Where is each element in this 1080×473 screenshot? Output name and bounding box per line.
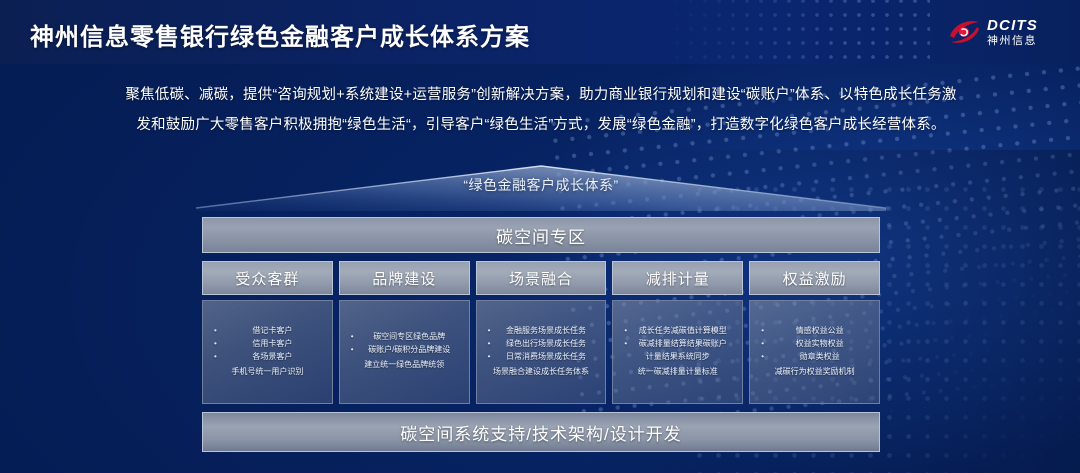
pillar-footer: 场景融合建设成长任务体系	[480, 365, 603, 379]
bullet-list: 借记卡客户 信用卡客户 各场景客户	[206, 324, 329, 363]
dcits-swoosh-icon	[948, 17, 982, 47]
summary-line-1: 聚焦低碳、减碳，提供“咨询规划+系统建设+运营服务”创新解决方案，助力商业银行规…	[30, 80, 1052, 110]
header-dots-pattern	[670, 0, 930, 64]
list-item: 碳账户/碳积分品牌建设	[343, 343, 466, 356]
logo-text-cn: 神州信息	[987, 36, 1038, 47]
pillar-note: 计量结果系统同步	[616, 350, 739, 363]
page-title: 神州信息零售银行绿色金融客户成长体系方案	[30, 17, 530, 52]
bullet-list: 情感权益公益 权益实物权益 勋章类权益	[753, 324, 876, 363]
pillar-footer: 统一碳减排量计量标准	[616, 365, 739, 379]
pillar-title: 减排计量	[612, 261, 743, 295]
list-item: 各场景客户	[206, 350, 329, 363]
pillar-content: 成长任务减碳值计算模型 碳减排量结算结果碳账户 计量结果系统同步 统一碳减排量计…	[612, 300, 743, 404]
pillar-footer: 手机号统一用户识别	[206, 365, 329, 379]
bullet-list: 金融服务场景成长任务 绿色出行场景成长任务 日常消费场景成长任务	[480, 324, 603, 363]
logo-wordmark: DCITS 神州信息	[987, 18, 1038, 47]
pillar-column-audience[interactable]: 受众客群 借记卡客户 信用卡客户 各场景客户 手机号统一用户识别	[202, 261, 333, 404]
pillar-title: 受众客群	[202, 261, 333, 295]
bullet-list: 碳空间专区绿色品牌 碳账户/碳积分品牌建设	[343, 330, 466, 356]
roof-label: “绿色金融客户成长体系”	[196, 175, 886, 195]
list-item: 成长任务减碳值计算模型	[616, 324, 739, 337]
pillar-footer: 减碳行为权益奖励机制	[753, 365, 876, 379]
roof-shape: “绿色金融客户成长体系”	[196, 163, 886, 215]
list-item: 日常消费场景成长任务	[480, 350, 603, 363]
list-item: 碳空间专区绿色品牌	[343, 330, 466, 343]
list-item: 碳减排量结算结果碳账户	[616, 337, 739, 350]
summary-paragraph: 聚焦低碳、减碳，提供“咨询规划+系统建设+运营服务”创新解决方案，助力商业银行规…	[30, 80, 1052, 140]
bottom-bar-system-support: 碳空间系统支持/技术架构/设计开发	[202, 412, 880, 452]
list-item: 金融服务场景成长任务	[480, 324, 603, 337]
pillar-title: 品牌建设	[339, 261, 470, 295]
list-item: 信用卡客户	[206, 337, 329, 350]
pillar-content: 碳空间专区绿色品牌 碳账户/碳积分品牌建设 建立统一绿色品牌统领	[339, 300, 470, 404]
pillar-content: 情感权益公益 权益实物权益 勋章类权益 减碳行为权益奖励机制	[749, 300, 880, 404]
framework-diagram: “绿色金融客户成长体系” 碳空间专区 受众客群 借记卡客户 信用卡客户 各场景客…	[196, 163, 886, 463]
slide-canvas: 神州信息零售银行绿色金融客户成长体系方案 DCITS 神州信息 聚焦低碳、减碳，…	[0, 0, 1080, 473]
pillar-column-scenario[interactable]: 场景融合 金融服务场景成长任务 绿色出行场景成长任务 日常消费场景成长任务 场景…	[476, 261, 607, 404]
pillar-column-rewards[interactable]: 权益激励 情感权益公益 权益实物权益 勋章类权益 减碳行为权益奖励机制	[749, 261, 880, 404]
brand-logo: DCITS 神州信息	[948, 12, 1064, 52]
summary-line-2: 发和鼓励广大零售客户积极拥抱“绿色生活“，引导客户“绿色生活”方式，发展“绿色金…	[30, 110, 1052, 140]
list-item: 情感权益公益	[753, 324, 876, 337]
pillar-footer: 建立统一绿色品牌统领	[343, 358, 466, 372]
list-item: 借记卡客户	[206, 324, 329, 337]
pillar-column-brand[interactable]: 品牌建设 碳空间专区绿色品牌 碳账户/碳积分品牌建设 建立统一绿色品牌统领	[339, 261, 470, 404]
pillar-content: 金融服务场景成长任务 绿色出行场景成长任务 日常消费场景成长任务 场景融合建设成…	[476, 300, 607, 404]
pillar-column-measurement[interactable]: 减排计量 成长任务减碳值计算模型 碳减排量结算结果碳账户 计量结果系统同步 统一…	[612, 261, 743, 404]
pillar-title: 权益激励	[749, 261, 880, 295]
list-item: 绿色出行场景成长任务	[480, 337, 603, 350]
bullet-list: 成长任务减碳值计算模型 碳减排量结算结果碳账户	[616, 324, 739, 350]
pillar-columns: 受众客群 借记卡客户 信用卡客户 各场景客户 手机号统一用户识别 品牌建设 碳空…	[202, 261, 880, 404]
list-item: 勋章类权益	[753, 350, 876, 363]
header-band: 神州信息零售银行绿色金融客户成长体系方案 DCITS 神州信息	[0, 0, 1080, 64]
pillar-title: 场景融合	[476, 261, 607, 295]
list-item: 权益实物权益	[753, 337, 876, 350]
pillar-content: 借记卡客户 信用卡客户 各场景客户 手机号统一用户识别	[202, 300, 333, 404]
logo-text-en: DCITS	[987, 18, 1038, 33]
top-bar-carbon-zone: 碳空间专区	[202, 217, 880, 253]
